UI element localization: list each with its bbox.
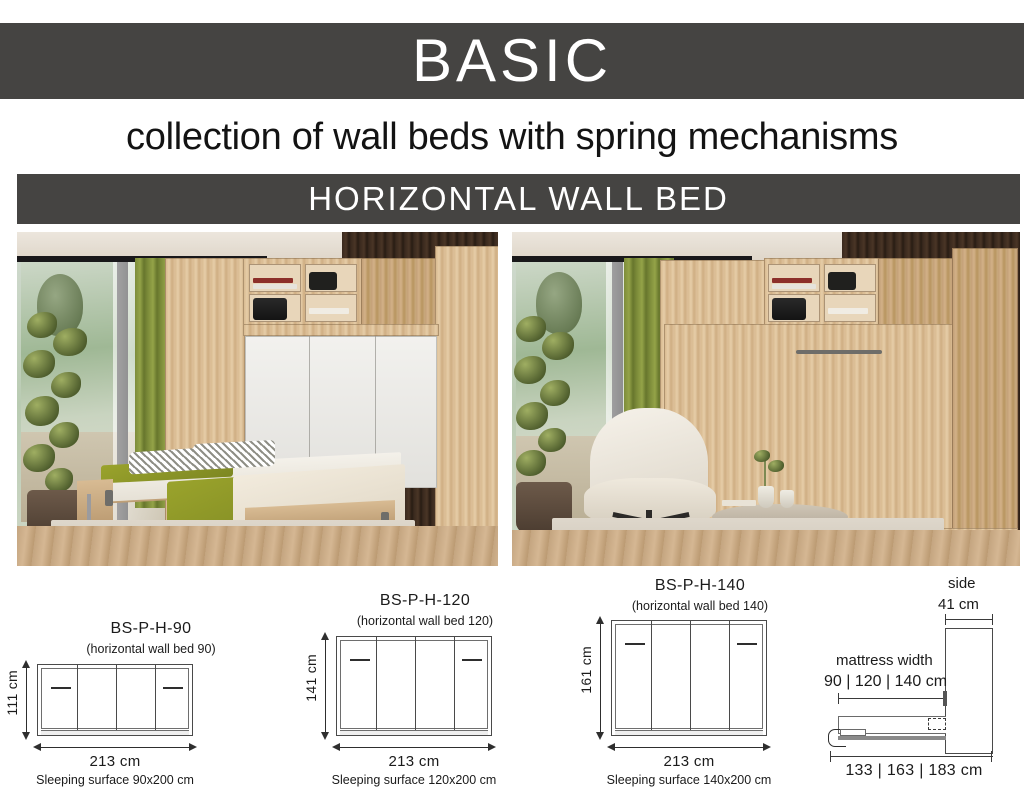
height-arrow-down [22,732,30,740]
bed-pull-handle [796,350,882,354]
total-width-values: 133 | 163 | 183 cm [824,762,1004,780]
height-arrow-up [22,660,30,668]
cabinet-upper-door [878,258,954,326]
subtitle-row: collection of wall beds with spring mech… [0,108,1024,166]
mattress-dim-line [838,698,946,699]
height-dim-line [325,636,326,736]
width-arrow-right [488,743,496,751]
mattress-width-values: 90 | 120 | 140 cm [824,673,947,691]
cabinet-column-right [952,248,1018,538]
bed-foot-detail [840,729,866,736]
cabinet-column-right [435,246,498,538]
panel-divider [116,665,117,735]
table-books [722,500,756,506]
width-label: 213 cm [611,753,767,770]
height-arrow-down [596,732,604,740]
dimension-drawings: BS-P-H-90 (horizontal wall bed 90) 111 c… [0,566,1024,789]
glass [780,490,794,508]
height-label: 111 cm [4,670,20,716]
cabinet-lintel [243,324,439,336]
cabinet-inner-frame [615,624,763,729]
decor-object [828,272,856,290]
section-banner: HORIZONTAL WALL BED [17,174,1020,224]
width-label: 213 cm [37,753,193,770]
subtitle-text: collection of wall beds with spring mech… [126,116,898,159]
cabinet-side-profile [945,628,993,754]
width-dim-line [37,747,193,748]
height-arrow-up [596,616,604,624]
diagram-code: BS-P-H-140 [575,577,825,595]
vase [758,486,774,508]
height-arrow-down [321,732,329,740]
side-depth-label: 41 cm [938,596,979,613]
speaker [253,298,287,320]
wood-floor [17,526,498,566]
width-dim-line [611,747,767,748]
panel-handle [350,659,370,661]
height-dim-line [600,620,601,736]
decor-object [828,308,868,314]
panel-divider [690,621,691,735]
total-tick-left [830,751,831,762]
diagram-code: BS-P-H-90 [26,620,276,638]
mattress-tick-right [943,691,947,706]
sleeping-surface-label: Sleeping surface 140x200 cm [589,773,789,787]
panel-handle [462,659,482,661]
panel-divider [729,621,730,735]
panel-handle [51,687,71,689]
height-arrow-up [321,632,329,640]
diagram-description: (horizontal wall bed 90) [26,642,276,656]
cabinet-inner-frame [340,640,488,729]
cabinet-front-view [336,636,492,736]
height-dim-line [26,664,27,736]
photo-wall-bed-open [17,232,498,566]
panel-handle [737,643,757,645]
total-tick-right [991,751,992,762]
bed-base-bar [838,736,946,740]
panel-divider [376,637,377,735]
width-label: 213 cm [336,753,492,770]
width-dim-line [336,747,492,748]
mattress-width-label: mattress width [836,652,933,669]
width-arrow-left [607,743,615,751]
section-title: HORIZONTAL WALL BED [308,180,729,218]
decor-object [309,308,349,314]
panel-divider [454,637,455,735]
books [772,284,816,289]
panel-handle [625,643,645,645]
photo-wall-bed-closed [512,232,1020,566]
panel-divider [77,665,78,735]
depth-tick-left [945,614,946,625]
books [253,278,293,283]
books [772,278,812,283]
page-title: BASIC [412,31,612,91]
mattress-tick-left [838,693,839,704]
title-banner: BASIC [0,23,1024,99]
diagram-code: BS-P-H-120 [300,592,550,610]
panel-handle [163,687,183,689]
total-dim-line [830,756,993,757]
panel-divider [651,621,652,735]
width-arrow-right [189,743,197,751]
cabinet-inner-frame [41,668,189,729]
books [253,284,297,289]
diagram-description: (horizontal wall bed 120) [300,614,550,628]
cabinet-plinth [615,730,763,735]
height-label: 141 cm [303,654,319,702]
cabinet-plinth [340,730,488,735]
wood-floor [512,530,1020,566]
diagram-description: (horizontal wall bed 140) [575,599,825,613]
panel-divider [415,637,416,735]
width-arrow-right [763,743,771,751]
pillow [193,440,275,470]
depth-dim-line [945,619,993,620]
depth-tick-right [992,614,993,625]
width-arrow-left [332,743,340,751]
cabinet-upper-door [361,258,439,328]
height-label: 161 cm [578,646,594,694]
sleeping-surface-label: Sleeping surface 120x200 cm [314,773,514,787]
cabinet-front-view [611,620,767,736]
side-view-title: side [948,575,976,592]
width-arrow-left [33,743,41,751]
decor-object [309,272,337,290]
sleeping-surface-label: Sleeping surface 90x200 cm [15,773,215,787]
cabinet-front-view [37,664,193,736]
panel-divider [155,665,156,735]
cabinet-plinth [41,730,189,735]
mechanism-indicator [928,718,946,730]
speaker [772,298,806,320]
bed-hardware [105,490,113,506]
